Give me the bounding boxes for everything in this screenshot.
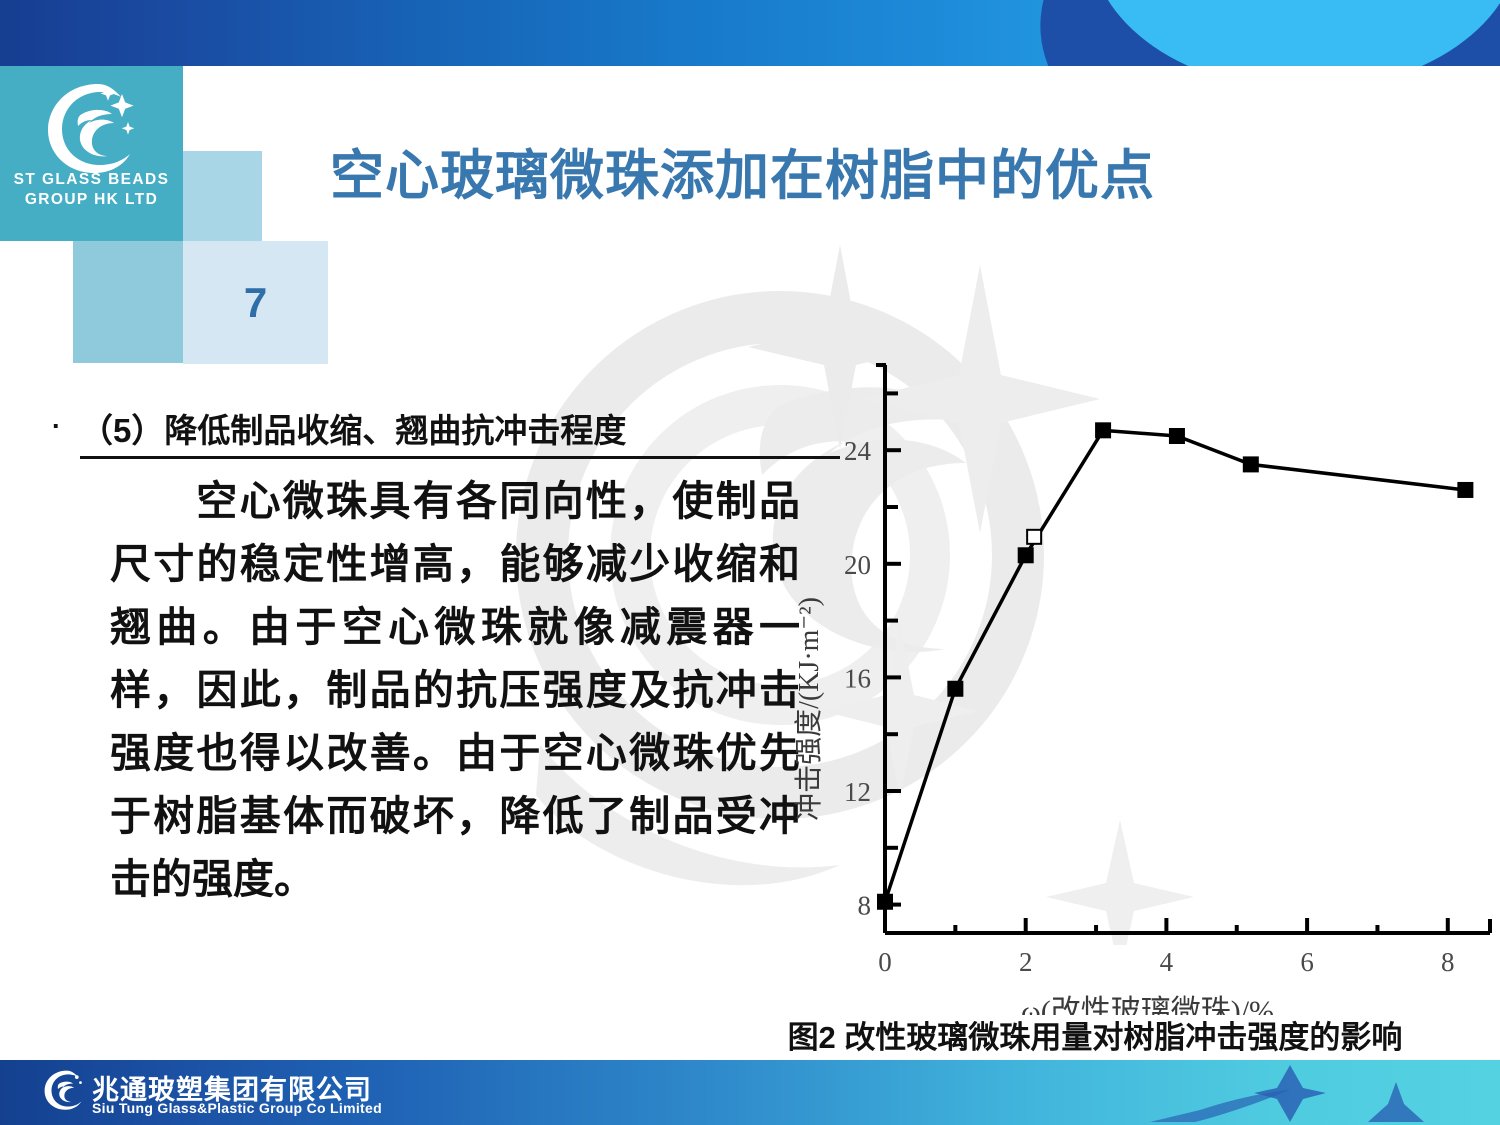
y-axis-title: 冲击强度/(KJ·m⁻²): [793, 597, 825, 821]
section-heading: （5）降低制品收缩、翘曲抗冲击程度: [80, 404, 840, 459]
y-tick-label: 8: [858, 891, 872, 921]
x-tick-label: 2: [1019, 947, 1032, 977]
x-tick-label: 4: [1160, 947, 1174, 977]
data-point-marker: [1457, 482, 1473, 498]
y-tick-label: 24: [844, 436, 872, 466]
data-point-marker: [877, 894, 893, 910]
x-tick-label: 8: [1441, 947, 1455, 977]
impact-strength-chart: 81216202402468ω(改性玻璃微珠)/%冲击强度/(KJ·m⁻²): [790, 355, 1500, 1015]
paragraph-text: 空心微珠具有各同向性，使制品尺寸的稳定性增高，能够减少收缩和翘曲。由于空心微珠就…: [110, 478, 800, 902]
footer-logo-icon: [40, 1067, 86, 1113]
page-number: 7: [183, 241, 328, 364]
decor-square-mid: [73, 241, 183, 363]
bullet-marker: .: [52, 404, 60, 434]
chart-canvas: 81216202402468ω(改性玻璃微珠)/%冲击强度/(KJ·m⁻²): [790, 355, 1500, 1015]
data-line: [885, 430, 1465, 901]
brand-logo-line2: GROUP HK LTD: [0, 190, 183, 210]
x-tick-label: 6: [1300, 947, 1314, 977]
y-tick-label: 16: [844, 663, 871, 693]
x-tick-label: 0: [878, 947, 892, 977]
data-point-marker: [1018, 547, 1034, 563]
slide-title: 空心玻璃微珠添加在树脂中的优点: [330, 143, 1290, 209]
y-tick-label: 12: [844, 777, 871, 807]
brand-logo-box: ST GLASS BEADS GROUP HK LTD: [0, 66, 183, 241]
data-point-marker: [1169, 428, 1185, 444]
decor-square-top: [183, 151, 262, 241]
figure-caption: 图2 改性玻璃微珠用量对树脂冲击强度的影响: [700, 1012, 1490, 1057]
y-tick-label: 20: [844, 550, 871, 580]
body-paragraph: 空心微珠具有各同向性，使制品尺寸的稳定性增高，能够减少收缩和翘曲。由于空心微珠就…: [110, 470, 800, 911]
top-decoration-banner: [0, 0, 1500, 66]
data-point-marker: [1243, 456, 1259, 472]
brand-logo-line1: ST GLASS BEADS: [0, 170, 183, 190]
st-glass-beads-logo-icon: [36, 78, 146, 178]
data-point-marker: [1095, 422, 1111, 438]
footer-company-en: Siu Tung Glass&Plastic Group Co Limited: [92, 1100, 382, 1116]
data-point-marker-open: [1027, 530, 1041, 544]
footer-bar: 兆通玻塑集团有限公司 Siu Tung Glass&Plastic Group …: [0, 1060, 1500, 1125]
data-point-marker: [947, 681, 963, 697]
brand-logo-text: ST GLASS BEADS GROUP HK LTD: [0, 170, 183, 210]
